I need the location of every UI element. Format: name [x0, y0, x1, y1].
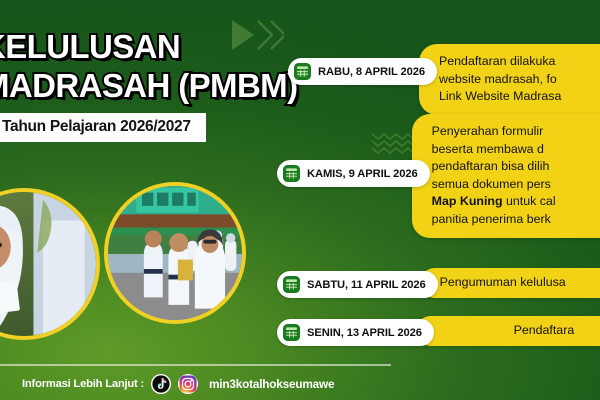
card-line: beserta membawa d [432, 141, 600, 159]
date-label: RABU, 8 APRIL 2026 [318, 66, 425, 78]
card-line: Pengumuman kelulusa [440, 274, 600, 292]
detail-card: Pengumuman kelulusa [420, 268, 600, 298]
date-pill[interactable]: KAMIS, 9 APRIL 2026 [277, 160, 430, 187]
footer-label: Informasi Lebih Lanjut : [22, 378, 144, 390]
calendar-icon [283, 276, 300, 293]
card-line: semua dokumen pers [432, 176, 600, 194]
card-line-bold: Map Kuning [432, 194, 503, 208]
social-handle[interactable]: min3kotalhokseumawe [209, 377, 334, 391]
date-label: SABTU, 11 APRIL 2026 [307, 279, 426, 291]
date-label: KAMIS, 9 APRIL 2026 [307, 168, 418, 180]
detail-card: Pendaftaran dilakuka website madrasah, f… [419, 44, 600, 115]
card-line: Link Website Madrasa [439, 88, 600, 106]
card-line: website madrasah, fo [439, 71, 600, 89]
date-pill[interactable]: SABTU, 11 APRIL 2026 [277, 271, 438, 298]
card-line-emphasis: Map Kuning untuk cal [432, 193, 600, 211]
photo-award-ceremony-image [108, 186, 242, 320]
card-line: Pendaftara [436, 322, 600, 340]
timeline-row[interactable]: SABTU, 11 APRIL 2026 Pengumuman kelulusa [277, 271, 600, 298]
detail-card: Pendaftara [416, 316, 600, 346]
card-line: Penyerahan formulir [432, 123, 600, 141]
footer-divider [0, 364, 391, 366]
headline-line-1: KELULUSAN [0, 28, 282, 67]
date-pill[interactable]: RABU, 8 APRIL 2026 [288, 58, 437, 85]
calendar-icon [294, 63, 311, 80]
card-line: panitia penerima berk [432, 211, 600, 229]
card-line: Pendaftaran dilakuka [439, 53, 600, 71]
photo-student-portrait-image [0, 192, 96, 336]
timeline-row[interactable]: SENIN, 13 APRIL 2026 Pendaftara [277, 319, 600, 346]
card-line: pendaftaran bisa dilih [432, 158, 600, 176]
footer: Informasi Lebih Lanjut : [22, 374, 334, 394]
poster-canvas: KELULUSAN MADRASAH (PMBM) Tahun Pelajara… [0, 0, 600, 400]
detail-card: Penyerahan formulir beserta membawa d pe… [412, 114, 600, 238]
tiktok-icon[interactable] [151, 374, 171, 394]
timeline-row[interactable]: RABU, 8 APRIL 2026 Pendaftaran dilakuka … [288, 58, 600, 115]
headline-line-2: MADRASAH (PMBM) [0, 67, 282, 106]
instagram-icon[interactable] [178, 374, 198, 394]
date-label: SENIN, 13 APRIL 2026 [307, 327, 422, 339]
date-pill[interactable]: SENIN, 13 APRIL 2026 [277, 319, 434, 346]
calendar-icon [283, 165, 300, 182]
subtitle-banner: Tahun Pelajaran 2026/2027 [0, 113, 206, 142]
timeline-row[interactable]: KAMIS, 9 APRIL 2026 Penyerahan formulir … [277, 160, 600, 238]
photo-award-ceremony [104, 182, 246, 324]
photo-student-portrait [0, 188, 100, 340]
calendar-icon [283, 324, 300, 341]
page-title: KELULUSAN MADRASAH (PMBM) [0, 28, 282, 106]
subtitle-text: Tahun Pelajaran 2026/2027 [2, 118, 194, 136]
